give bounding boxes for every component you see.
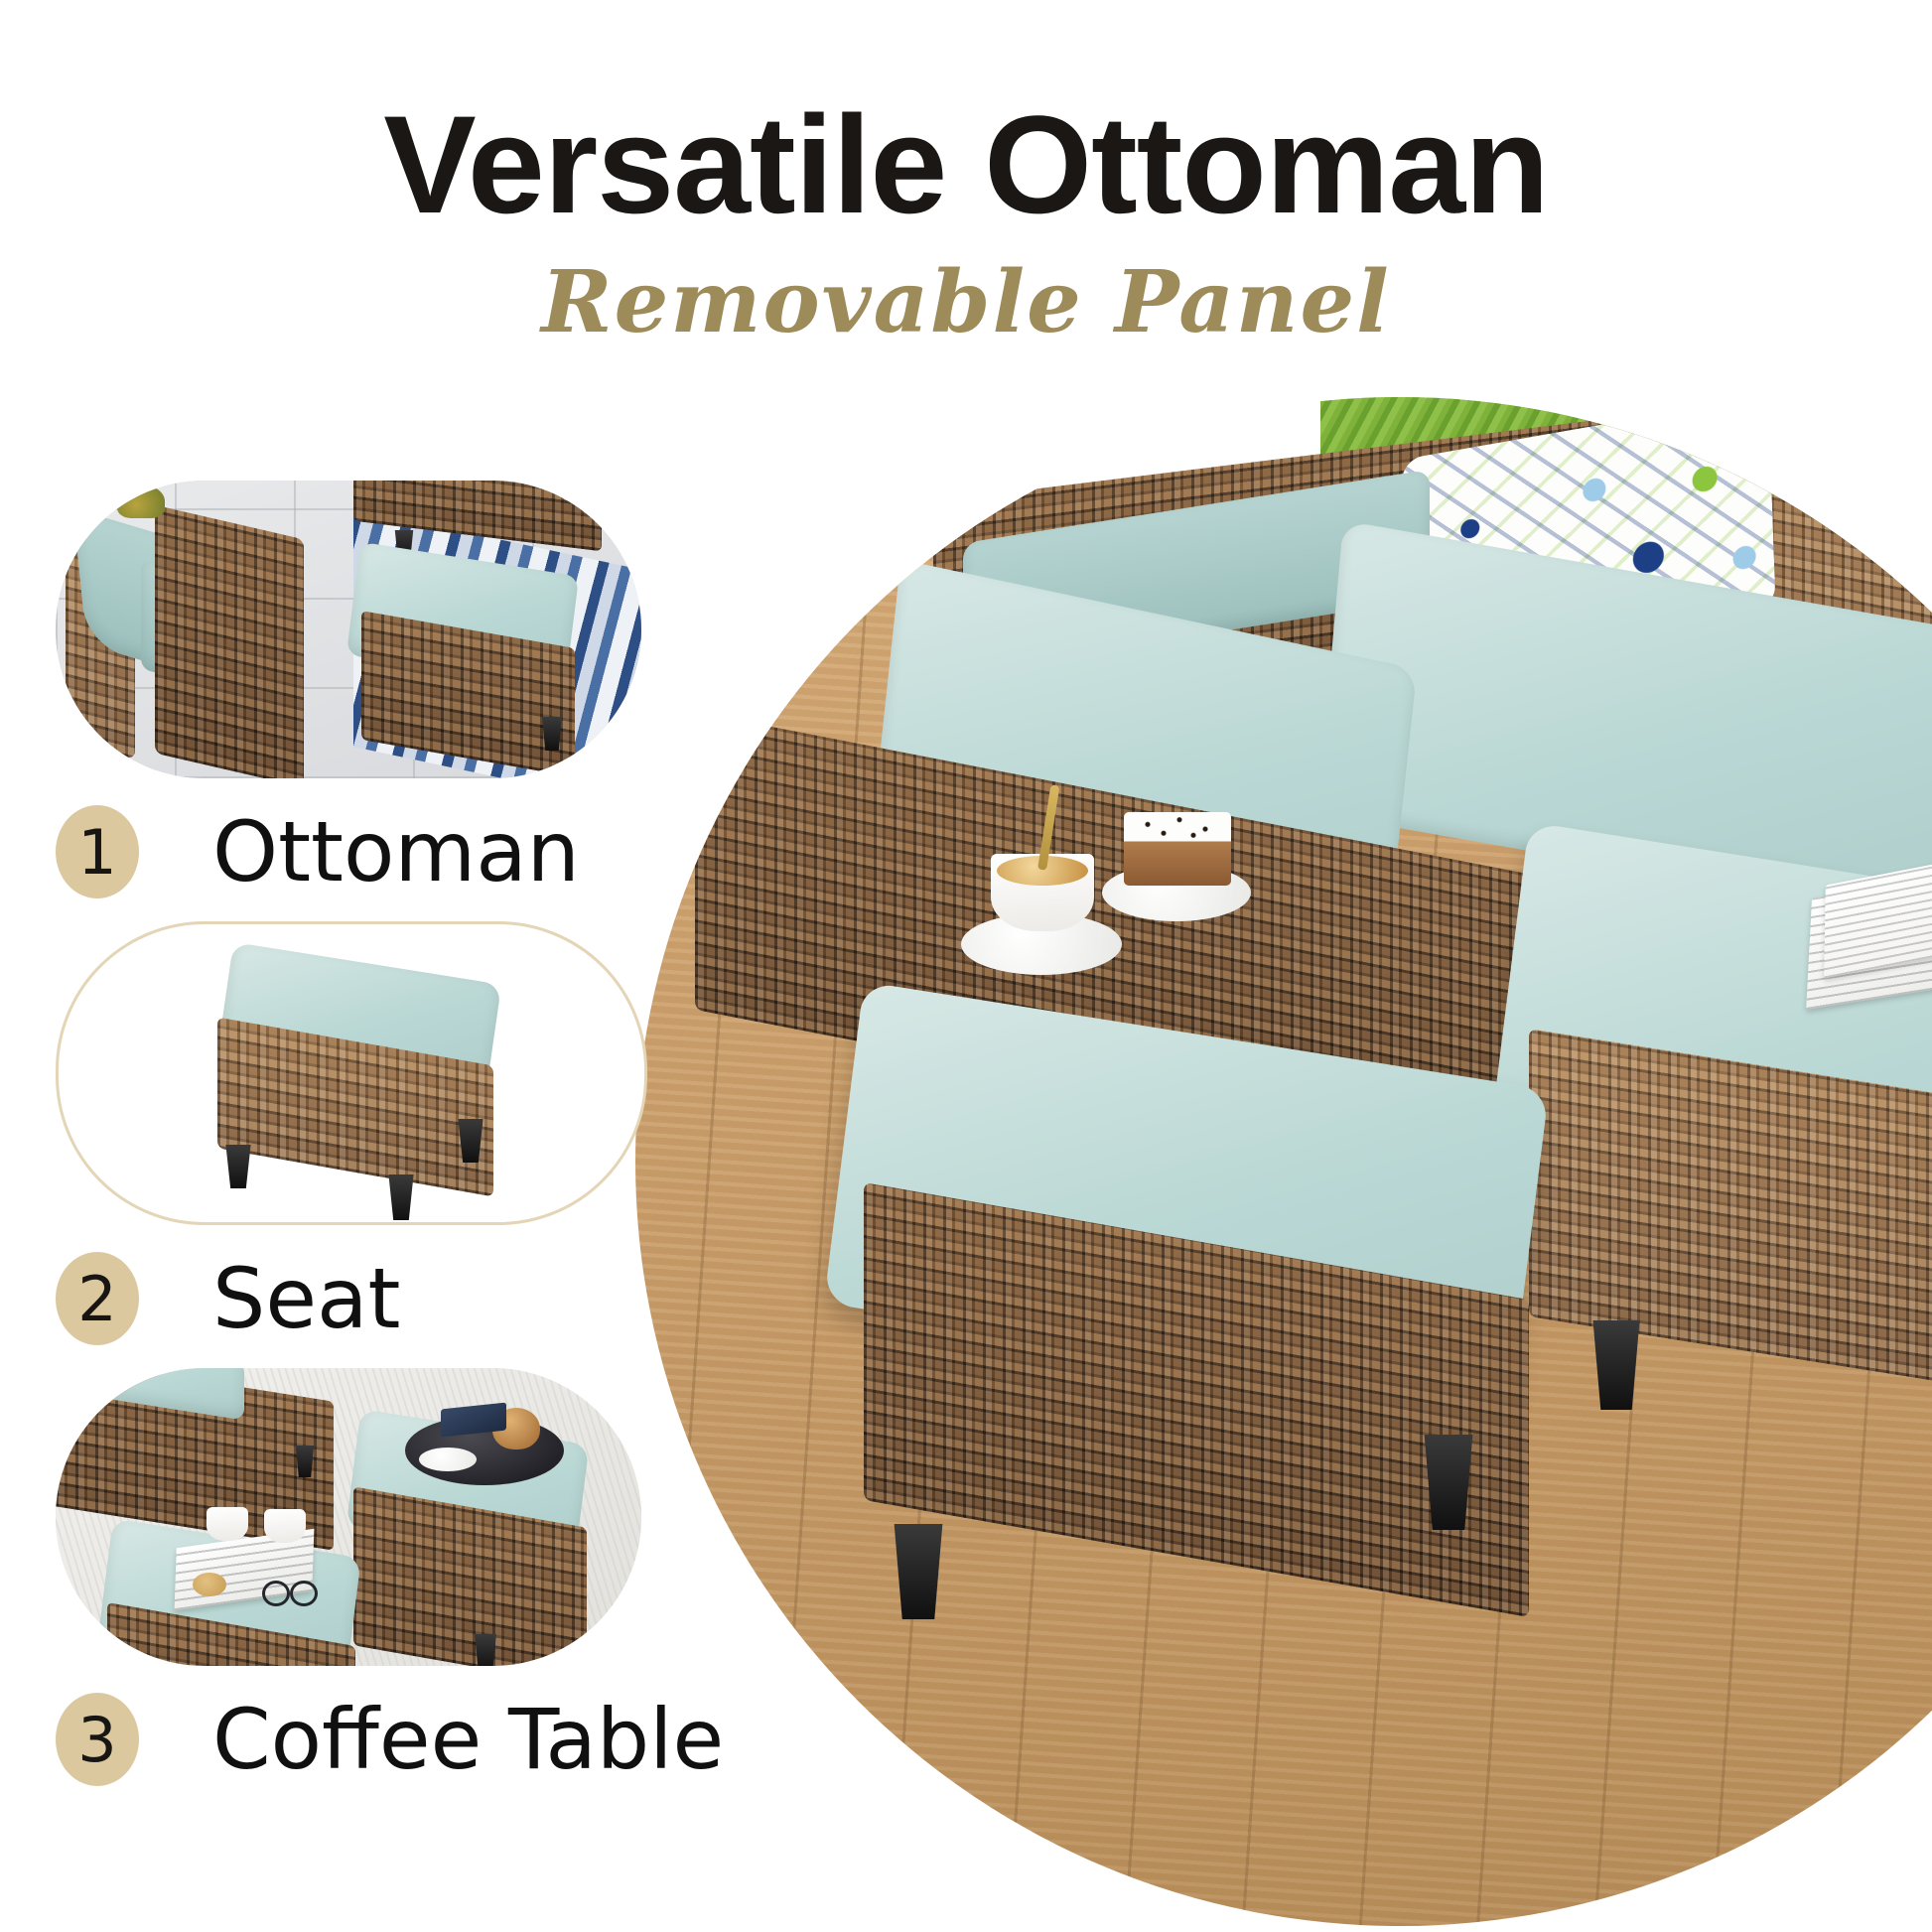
seat-product-shot (59, 924, 644, 1222)
feature-label-row: 1 Ottoman (56, 792, 641, 911)
thumb-coffee-table-scene (56, 1368, 641, 1666)
feature-badge-1: 1 (56, 805, 139, 898)
thumb-ottoman-patio (56, 481, 641, 778)
feature-name-2: Seat (212, 1250, 400, 1347)
hero-scene (635, 397, 1932, 1926)
cookie (193, 1573, 226, 1596)
sandwich-plate (419, 1448, 477, 1471)
feature-name-1: Ottoman (212, 803, 580, 900)
feature-item-seat: 2 Seat (56, 921, 641, 1358)
seat-leg-front (386, 1174, 416, 1220)
eyeglasses (262, 1581, 314, 1600)
feature-item-coffee-table: 3 Coffee Table (56, 1368, 641, 1799)
hero-image (635, 397, 1932, 1926)
feature-name-3: Coffee Table (212, 1691, 724, 1788)
coffee-table-scene (56, 1368, 641, 1666)
thumb-seat-product (56, 921, 647, 1225)
patio-chair-scene (56, 481, 641, 778)
feature-label-row: 3 Coffee Table (56, 1680, 641, 1799)
cake-sprinkles (1128, 814, 1227, 840)
feature-list: 1 Ottoman 2 Seat (56, 481, 641, 1809)
feature-label-row: 2 Seat (56, 1239, 641, 1358)
feature-badge-3: 3 (56, 1693, 139, 1786)
teacup-right (264, 1509, 306, 1543)
page-subtitle: Removable Panel (0, 260, 1932, 345)
teacup-left (207, 1507, 248, 1541)
feature-item-ottoman: 1 Ottoman (56, 481, 641, 911)
chair-arm-front (155, 505, 304, 778)
infographic-page: Versatile Ottoman Removable Panel (0, 0, 1932, 1932)
page-title: Versatile Ottoman (0, 95, 1932, 234)
potted-plant (117, 484, 165, 518)
seat-leg-left (223, 1145, 253, 1188)
header: Versatile Ottoman Removable Panel (0, 95, 1932, 345)
feature-badge-2: 2 (56, 1252, 139, 1345)
